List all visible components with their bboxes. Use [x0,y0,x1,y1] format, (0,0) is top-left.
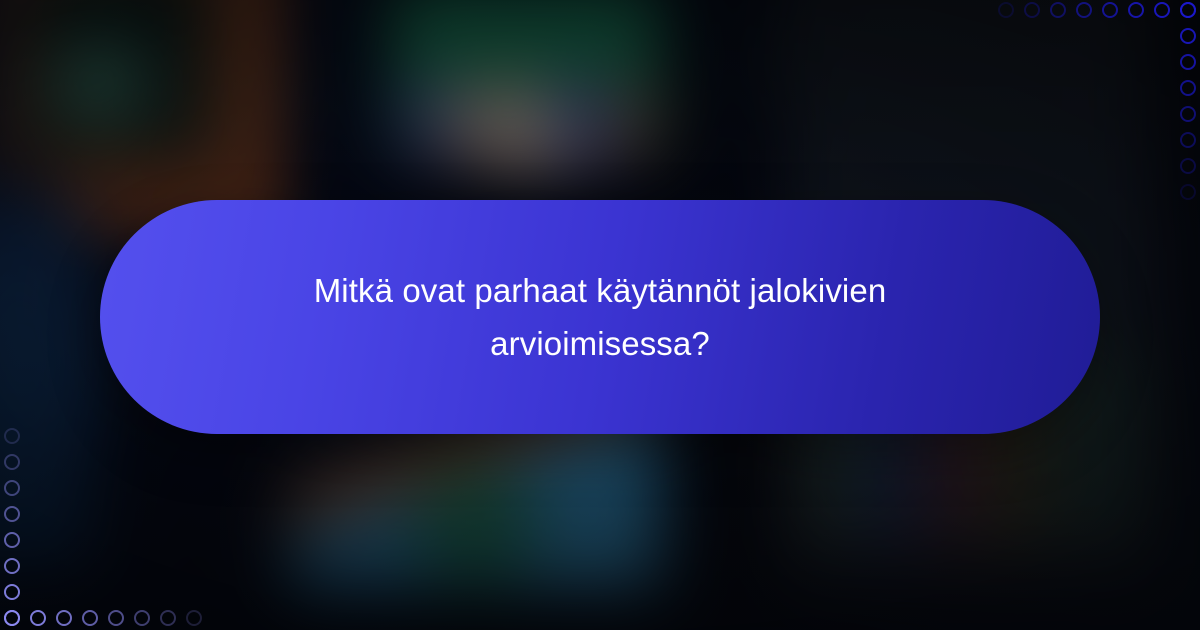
decor-dot-icon [1180,28,1196,44]
decor-dot-icon [1180,80,1196,96]
decor-dot-icon [1180,132,1196,148]
decor-dot-icon [1180,184,1196,200]
decor-dot-icon [82,610,98,626]
decor-dot-icon [4,584,20,600]
decor-dot-icon [56,610,72,626]
decor-dot-icon [4,454,20,470]
og-card-canvas: Mitkä ovat parhaat käytännöt jalokivien … [0,0,1200,630]
dot-pattern-bottom-left [4,610,202,626]
dot-pattern-left-column [4,428,20,626]
decor-dot-icon [30,610,46,626]
decor-dot-icon [1024,2,1040,18]
dot-pattern-right-column [1180,2,1196,200]
dot-pattern-top-right [998,2,1196,18]
decor-dot-icon [1050,2,1066,18]
decor-dot-icon [4,558,20,574]
question-text: Mitkä ovat parhaat käytännöt jalokivien … [220,264,980,371]
question-card: Mitkä ovat parhaat käytännöt jalokivien … [100,200,1100,434]
decor-dot-icon [186,610,202,626]
decor-dot-icon [4,480,20,496]
decor-dot-icon [1180,158,1196,174]
decor-dot-icon [1154,2,1170,18]
decor-dot-icon [1180,54,1196,70]
decor-dot-icon [1180,2,1196,18]
decor-dot-icon [4,428,20,444]
decor-dot-icon [1076,2,1092,18]
decor-dot-icon [1128,2,1144,18]
decor-dot-icon [1102,2,1118,18]
decor-dot-icon [4,506,20,522]
decor-dot-icon [998,2,1014,18]
decor-dot-icon [160,610,176,626]
decor-dot-icon [4,532,20,548]
decor-dot-icon [134,610,150,626]
decor-dot-icon [108,610,124,626]
decor-dot-icon [1180,106,1196,122]
decor-dot-icon [4,610,20,626]
